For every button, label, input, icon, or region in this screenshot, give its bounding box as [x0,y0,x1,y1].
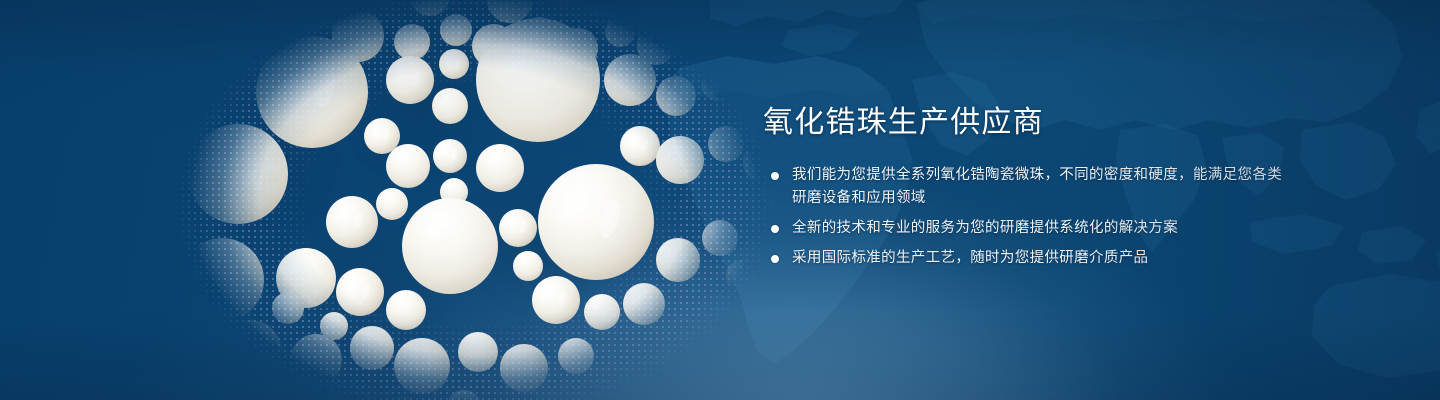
banner-vignette [0,0,1440,400]
hero-banner: 氧化锆珠生产供应商 我们能为您提供全系列氧化锆陶瓷微珠，不同的密度和硬度，能满足… [0,0,1440,400]
